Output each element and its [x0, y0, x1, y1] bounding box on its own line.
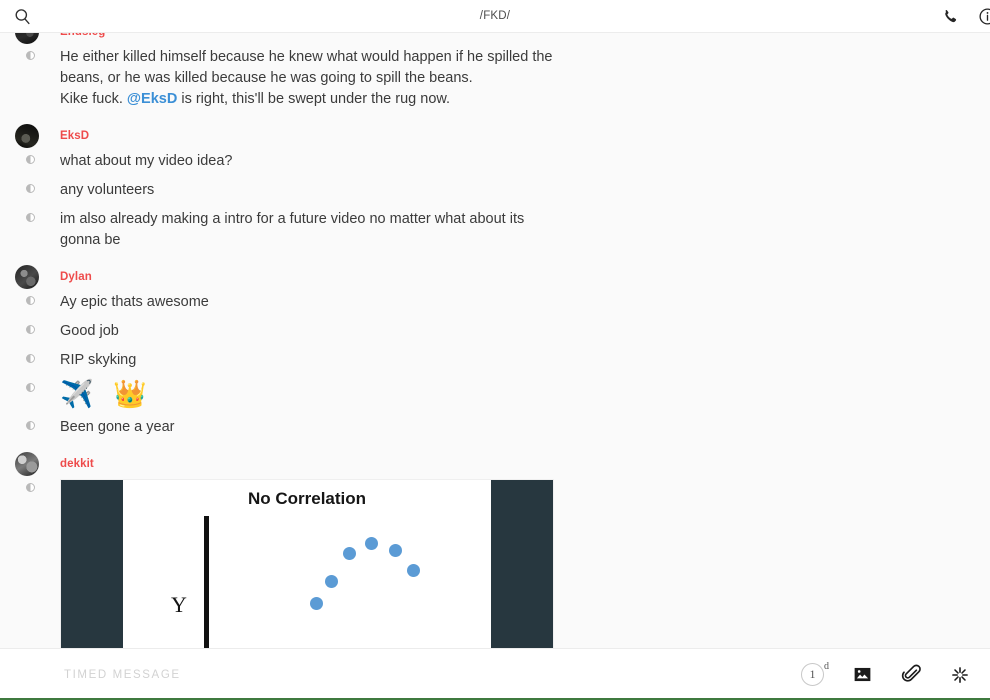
- message-group: dekkitNo CorrelationY: [0, 453, 990, 648]
- message-attachment-image[interactable]: No CorrelationY: [60, 479, 554, 648]
- message-group-header: dekkit: [0, 453, 990, 475]
- chart-y-axis-label: Y: [171, 594, 187, 615]
- message-attachment-body: No CorrelationY: [60, 479, 580, 648]
- message-text: what about my video idea?: [60, 151, 560, 172]
- message-author-name[interactable]: EksD: [60, 130, 89, 142]
- message-row[interactable]: No CorrelationY: [0, 475, 990, 648]
- chart-data-point: [389, 544, 402, 557]
- read-indicator-icon: [26, 483, 35, 492]
- timed-message-duration-button[interactable]: 1 d: [801, 663, 824, 686]
- message-list-scroll-area[interactable]: EndsiegHe either killed himself because …: [0, 33, 990, 648]
- message-author-name[interactable]: Dylan: [60, 271, 92, 283]
- message-text: RIP skyking: [60, 350, 560, 371]
- read-indicator-icon: [26, 354, 35, 363]
- conversation-header: /FKD/: [0, 0, 990, 33]
- chart-data-point: [343, 547, 356, 560]
- message-text: Good job: [60, 321, 560, 342]
- message-text: Ay epic thats awesome: [60, 292, 560, 313]
- message-group: EksDwhat about my video idea?any volunte…: [0, 125, 990, 255]
- message-row[interactable]: any volunteers: [0, 176, 990, 205]
- message-status: [0, 292, 60, 305]
- search-icon[interactable]: [14, 8, 31, 25]
- page-title: /FKD/: [0, 10, 990, 22]
- message-row[interactable]: RIP skyking: [0, 346, 990, 375]
- message-text: Been gone a year: [60, 417, 560, 438]
- message-status: [0, 379, 60, 392]
- read-indicator-icon: [26, 421, 35, 430]
- message-status: [0, 47, 60, 60]
- chat-app-window: /FKD/ EndsiegHe either killed himself be…: [0, 0, 990, 700]
- chart-y-axis-line: [204, 516, 209, 648]
- read-indicator-icon: [26, 383, 35, 392]
- message-status: [0, 180, 60, 193]
- info-icon[interactable]: [978, 7, 990, 26]
- paperclip-icon[interactable]: [901, 664, 922, 685]
- timer-unit: d: [824, 661, 829, 672]
- message-status: [0, 417, 60, 430]
- chart-title: No Correlation: [61, 488, 553, 509]
- read-indicator-icon: [26, 296, 35, 305]
- header-right-group: [941, 0, 990, 33]
- avatar[interactable]: [15, 124, 39, 148]
- header-left-group: [14, 8, 31, 25]
- read-indicator-icon: [26, 325, 35, 334]
- sparkle-icon[interactable]: [950, 665, 970, 685]
- message-group-header: EksD: [0, 125, 990, 147]
- message-row[interactable]: what about my video idea?: [0, 147, 990, 176]
- message-status: [0, 209, 60, 222]
- message-group-header: Dylan: [0, 266, 990, 288]
- read-indicator-icon: [26, 184, 35, 193]
- message-row[interactable]: Good job: [0, 317, 990, 346]
- phone-icon[interactable]: [941, 8, 958, 25]
- read-indicator-icon: [26, 155, 35, 164]
- message-row[interactable]: Ay epic thats awesome: [0, 288, 990, 317]
- message-status: [0, 350, 60, 363]
- message-group: DylanAy epic thats awesomeGood jobRIP sk…: [0, 266, 990, 442]
- message-composer-bar: 1 d: [0, 648, 990, 700]
- message-status: [0, 151, 60, 164]
- message-row[interactable]: im also already making a intro for a fut…: [0, 205, 990, 255]
- message-author-name[interactable]: dekkit: [60, 458, 94, 470]
- message-text: any volunteers: [60, 180, 560, 201]
- chart-data-point: [310, 597, 323, 610]
- read-indicator-icon: [26, 213, 35, 222]
- message-row[interactable]: ✈️ 👑: [0, 375, 990, 413]
- composer-actions: 1 d: [801, 663, 974, 686]
- message-text: ✈️ 👑: [60, 379, 560, 409]
- message-row[interactable]: He either killed himself because he knew…: [0, 43, 990, 114]
- message-group-header: Endsieg: [0, 33, 990, 43]
- message-status: [0, 321, 60, 334]
- read-indicator-icon: [26, 51, 35, 60]
- message-text: He either killed himself because he knew…: [60, 47, 560, 110]
- avatar[interactable]: [15, 452, 39, 476]
- image-icon[interactable]: [852, 664, 873, 685]
- message-group: EndsiegHe either killed himself because …: [0, 33, 990, 114]
- message-author-name[interactable]: Endsieg: [60, 33, 105, 38]
- message-list: EndsiegHe either killed himself because …: [0, 33, 990, 648]
- chart-data-point: [365, 537, 378, 550]
- message-text: im also already making a intro for a fut…: [60, 209, 560, 251]
- message-input[interactable]: [64, 669, 801, 681]
- message-row[interactable]: Been gone a year: [0, 413, 990, 442]
- avatar[interactable]: [15, 265, 39, 289]
- user-mention-link[interactable]: @EksD: [127, 91, 177, 107]
- chart-data-point: [407, 564, 420, 577]
- message-status: [0, 479, 60, 492]
- timer-value: 1: [810, 667, 816, 682]
- chart-data-point: [325, 575, 338, 588]
